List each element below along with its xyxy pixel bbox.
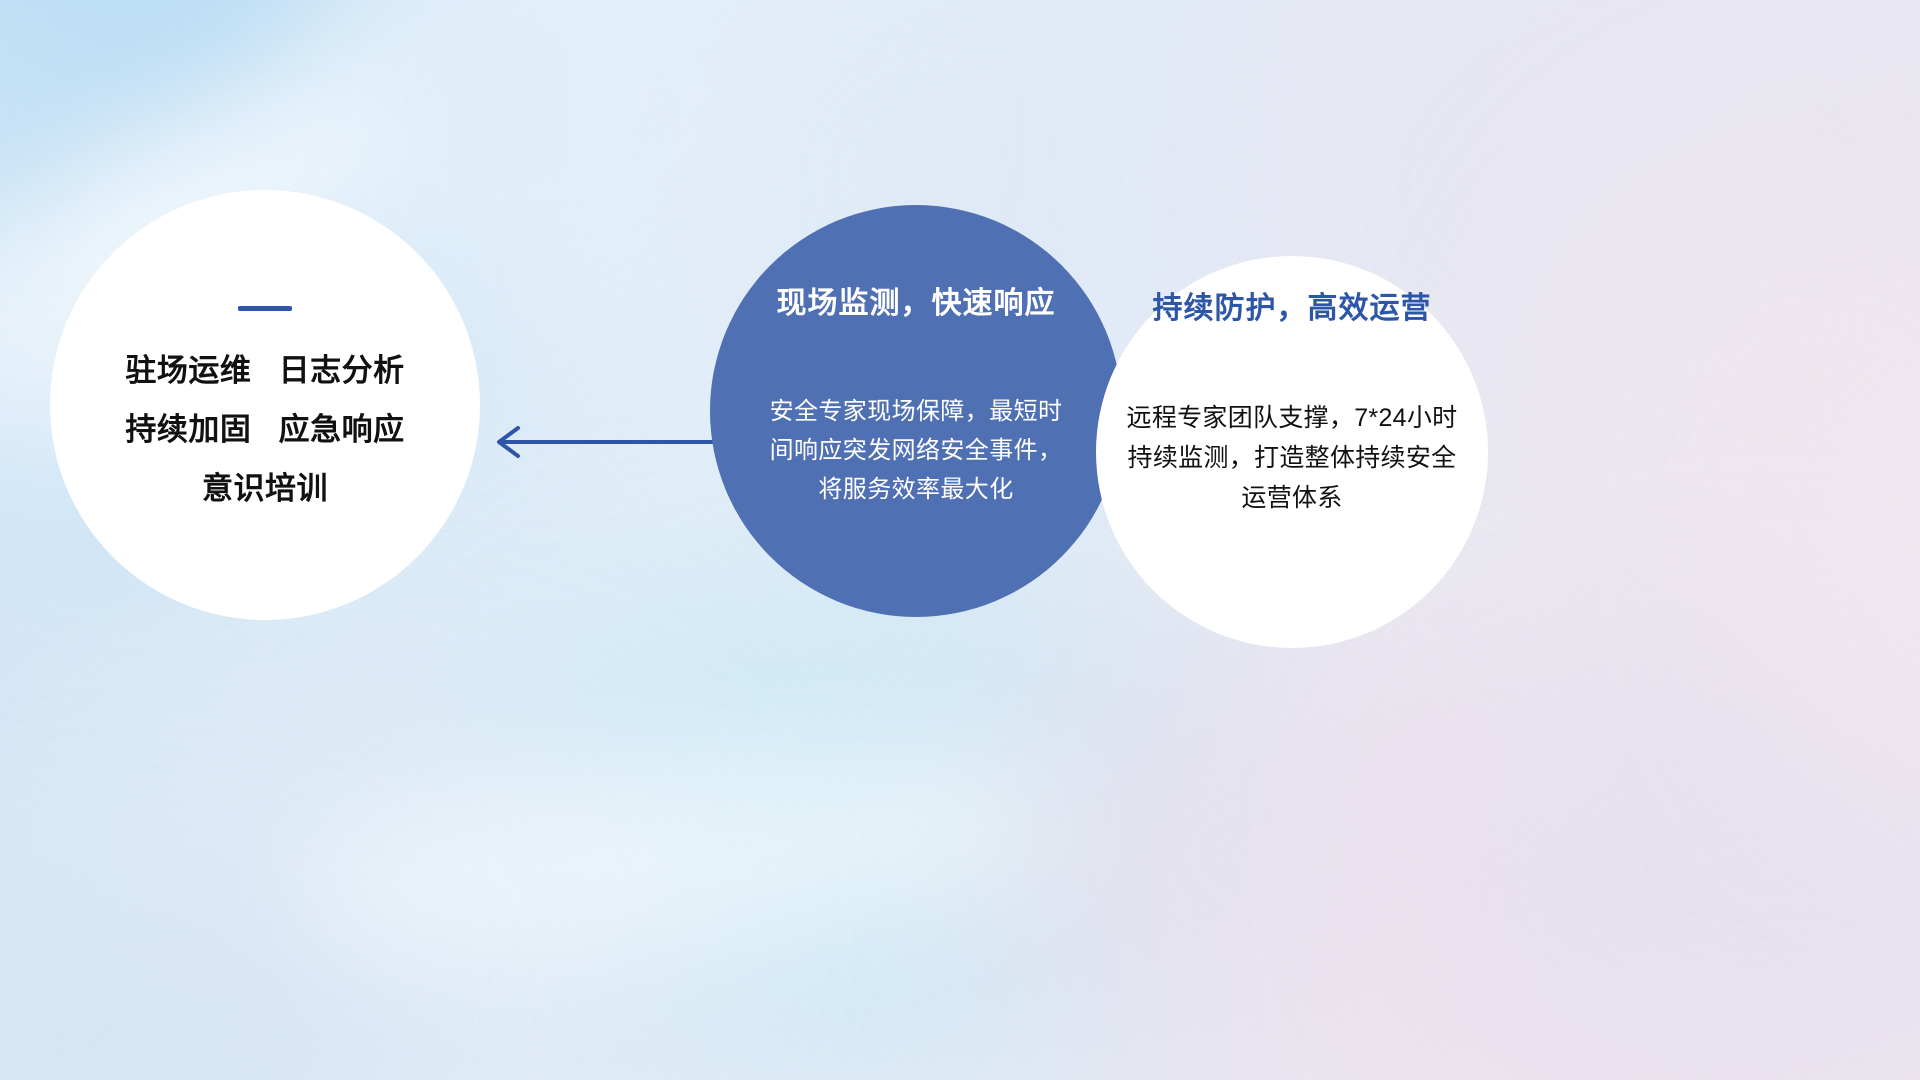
middle-circle-body: 安全专家现场保障，最短时间响应突发网络安全事件，将服务效率最大化 xyxy=(766,393,1066,510)
left-circle-line-2: 持续加固 应急响应 xyxy=(125,414,404,445)
flow-arrow-left-icon xyxy=(480,415,730,470)
right-continuous-protection-circle[interactable]: 持续防护，高效运营 远程专家团队支撑，7*24小时持续监测，打造整体持续安全运营… xyxy=(1096,256,1488,648)
right-circle-title: 持续防护，高效运营 xyxy=(1153,294,1432,324)
middle-circle-title: 现场监测，快速响应 xyxy=(777,289,1056,319)
left-circle-line-1: 驻场运维 日志分析 xyxy=(125,355,404,386)
middle-onsite-monitoring-circle[interactable]: 现场监测，快速响应 安全专家现场保障，最短时间响应突发网络安全事件，将服务效率最… xyxy=(710,205,1122,617)
accent-dash-icon xyxy=(238,306,292,311)
left-circle-line-3: 意识培训 xyxy=(202,473,328,504)
right-circle-body: 远程专家团队支撑，7*24小时持续监测，打造整体持续安全运营体系 xyxy=(1117,398,1467,518)
left-capability-circle[interactable]: 驻场运维 日志分析 持续加固 应急响应 意识培训 xyxy=(50,190,480,620)
